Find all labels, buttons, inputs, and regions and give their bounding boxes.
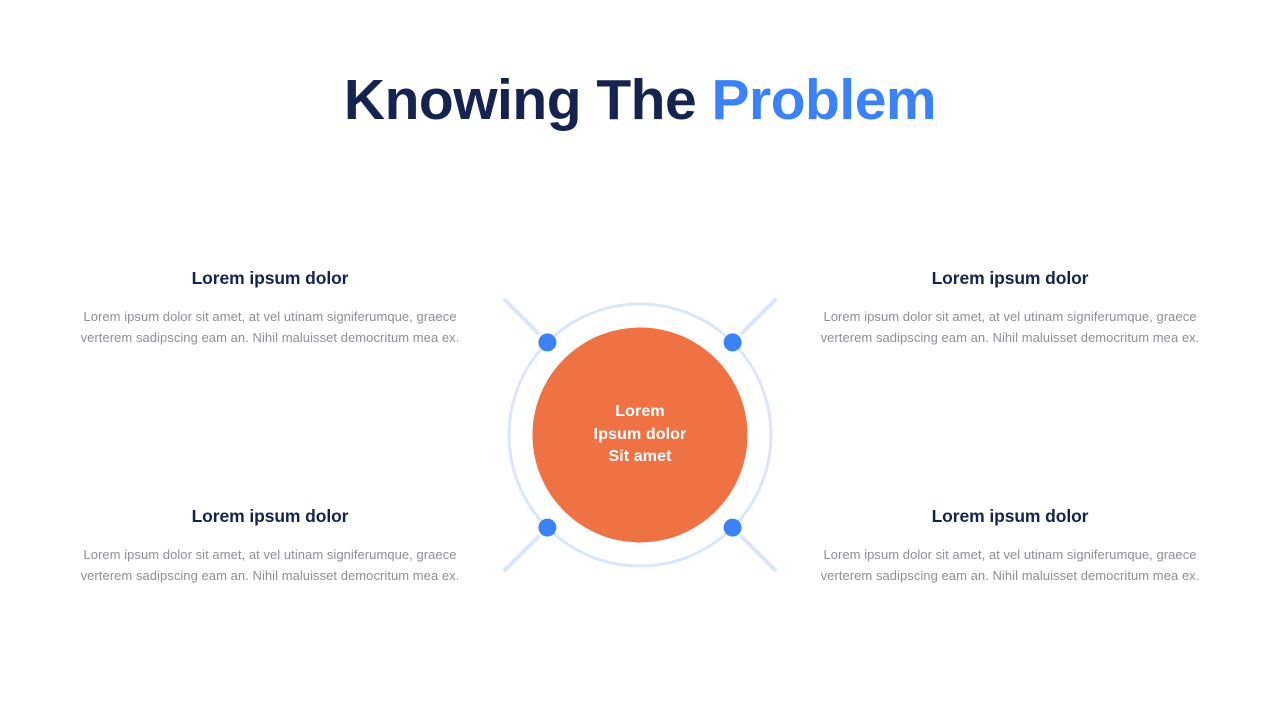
node-top-right-icon[interactable] [724, 333, 742, 351]
quadrant-top-right-heading: Lorem ipsum dolor [810, 268, 1210, 290]
quadrant-top-left-heading: Lorem ipsum dolor [70, 268, 470, 290]
quadrant-bottom-right: Lorem ipsum dolor Lorem ipsum dolor sit … [810, 506, 1210, 586]
slide-canvas: Knowing The Problem Lorem ipsum dolor Lo… [0, 0, 1280, 720]
center-circle [533, 328, 748, 543]
node-top-left-icon[interactable] [538, 333, 556, 351]
connector-line-bottom-right [742, 537, 775, 570]
quadrant-bottom-left: Lorem ipsum dolor Lorem ipsum dolor sit … [70, 506, 470, 586]
node-bottom-left-icon[interactable] [538, 519, 556, 537]
connector-line-bottom-left [505, 537, 538, 570]
quadrant-top-right-body: Lorem ipsum dolor sit amet, at vel utina… [810, 306, 1210, 348]
quadrant-bottom-left-body: Lorem ipsum dolor sit amet, at vel utina… [70, 544, 470, 586]
connector-line-top-left [505, 300, 538, 333]
center-diagram: Lorem Ipsum dolor Sit amet [480, 275, 800, 595]
quadrant-bottom-left-heading: Lorem ipsum dolor [70, 506, 470, 528]
quadrant-top-right: Lorem ipsum dolor Lorem ipsum dolor sit … [810, 268, 1210, 348]
page-title-primary: Knowing The [344, 68, 712, 132]
page-title-accent: Problem [712, 68, 937, 132]
quadrant-top-left: Lorem ipsum dolor Lorem ipsum dolor sit … [70, 268, 470, 348]
connector-line-top-right [742, 300, 775, 333]
node-bottom-right-icon[interactable] [724, 519, 742, 537]
page-title: Knowing The Problem [0, 68, 1280, 134]
quadrant-top-left-body: Lorem ipsum dolor sit amet, at vel utina… [70, 306, 470, 348]
quadrant-bottom-right-heading: Lorem ipsum dolor [810, 506, 1210, 528]
quadrant-bottom-right-body: Lorem ipsum dolor sit amet, at vel utina… [810, 544, 1210, 586]
